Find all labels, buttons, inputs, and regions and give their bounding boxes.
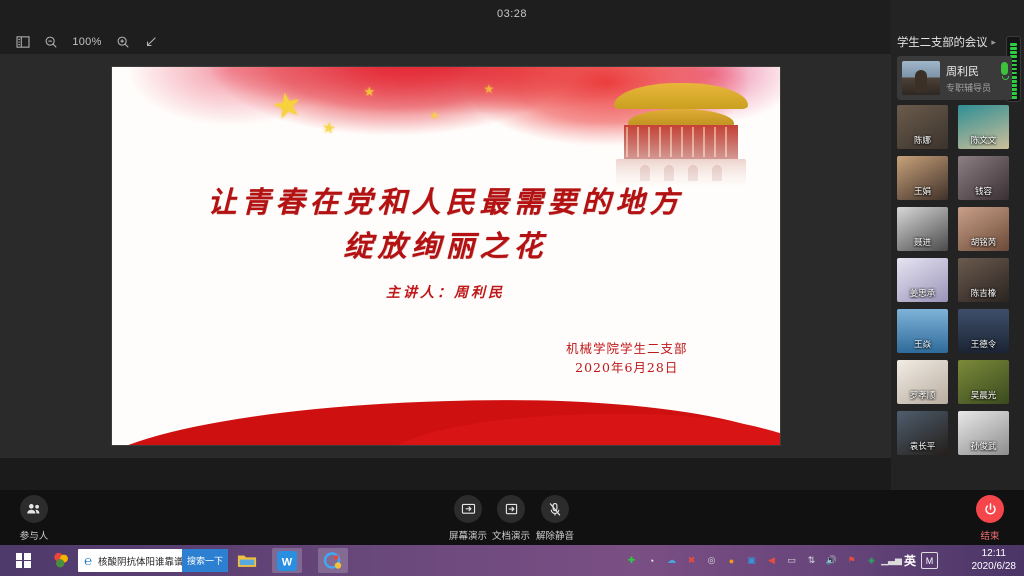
speaker-role: 专职辅导员 bbox=[946, 81, 991, 94]
tray-volume-icon[interactable]: 🔊 bbox=[824, 553, 839, 568]
meeting-title-row: 学生二支部的会议 ▸ bbox=[891, 32, 1024, 52]
tray-disc-icon[interactable]: ◎ bbox=[704, 553, 719, 568]
fit-screen-arrow-icon[interactable] bbox=[144, 33, 158, 51]
active-speaker-card[interactable]: 周利民 专职辅导员 bbox=[897, 56, 1012, 100]
tray-cloud-chat-icon[interactable]: ◔ bbox=[644, 553, 659, 568]
tray-speaker-red-icon[interactable]: ◀ bbox=[764, 553, 779, 568]
star-icon: ★ bbox=[484, 83, 495, 95]
search-button[interactable]: 搜索一下 bbox=[182, 549, 228, 572]
tray-blue-square-icon[interactable]: ▣ bbox=[744, 553, 759, 568]
windows-taskbar: ℮ 核酸阴抗体阳谁靠谱 搜索一下 W ✚◔☁✖◎●▣◀▭⇅🔊⚑◈▁▃▅英M bbox=[0, 545, 1024, 576]
slide-presenter: 主讲人：周利民 bbox=[112, 282, 780, 302]
layout-panel-icon[interactable] bbox=[16, 33, 30, 51]
speaker-meta: 周利民 专职辅导员 bbox=[946, 63, 991, 94]
slide-organization: 机械学院学生二支部 bbox=[566, 339, 688, 358]
participant-name: 聂进 bbox=[897, 236, 948, 248]
participants-button[interactable]: 参与人 bbox=[2, 495, 66, 542]
tray-orange-icon[interactable]: ● bbox=[724, 553, 739, 568]
file-explorer-icon[interactable] bbox=[232, 548, 262, 573]
qq-browser-icon[interactable] bbox=[318, 548, 348, 573]
star-icon: ★ bbox=[364, 85, 376, 98]
participant-name: 王德令 bbox=[958, 338, 1009, 350]
participant-name: 陈吉橡 bbox=[958, 287, 1009, 299]
meeting-title: 学生二支部的会议 bbox=[897, 34, 987, 50]
participant-name: 王娟 bbox=[897, 185, 948, 197]
participant-name: 陈文文 bbox=[958, 134, 1009, 146]
participant-name: 陈娜 bbox=[897, 134, 948, 146]
tencent-meeting-window: 03:28 bbox=[0, 0, 1024, 576]
participants-panel: 学生二支部的会议 ▸ 周利民 专职辅导员 陈娜陈文文王娟钱容聂进胡铭芮姜思承陈吉… bbox=[891, 0, 1024, 490]
participant-tile[interactable]: 王焱 bbox=[897, 309, 948, 353]
zoom-level-label: 100% bbox=[72, 36, 102, 48]
participant-tile[interactable]: 陈娜 bbox=[897, 105, 948, 149]
tray-usb-icon[interactable]: ⇅ bbox=[804, 553, 819, 568]
tray-shield-icon[interactable]: ◈ bbox=[864, 553, 879, 568]
mic-muted-icon bbox=[541, 495, 569, 523]
people-icon bbox=[20, 495, 48, 523]
speaker-name: 周利民 bbox=[946, 63, 991, 79]
mic-on-icon bbox=[1001, 62, 1008, 75]
star-icon: ★ bbox=[430, 111, 440, 122]
slide-title-line-1: 让青春在党和人民最需要的地方 bbox=[112, 181, 780, 225]
edge-icon: ℮ bbox=[78, 553, 98, 568]
tray-flag-icon[interactable]: ⚑ bbox=[844, 553, 859, 568]
tray-monitor-icon[interactable]: ▭ bbox=[784, 553, 799, 568]
end-meeting-button[interactable]: 结束 bbox=[958, 495, 1022, 542]
unmute-label: 解除静音 bbox=[523, 528, 587, 542]
participant-tile[interactable]: 胡铭芮 bbox=[958, 207, 1009, 251]
clock-date: 2020/6/28 bbox=[972, 561, 1017, 574]
window-title-bar: 03:28 bbox=[0, 0, 1024, 30]
search-input[interactable]: 核酸阴抗体阳谁靠谱 bbox=[98, 554, 182, 568]
participant-name: 袁长平 bbox=[897, 440, 948, 452]
participant-tile[interactable]: 陈吉橡 bbox=[958, 258, 1009, 302]
participant-name: 王焱 bbox=[897, 338, 948, 350]
meeting-control-bar: 参与人 屏幕演示 文档演示 bbox=[0, 490, 1024, 545]
tray-network-icon[interactable]: ▁▃▅ bbox=[884, 553, 899, 568]
slide-title: 让青春在党和人民最需要的地方 绽放绚丽之花 bbox=[112, 181, 780, 268]
taskbar-search-box[interactable]: ℮ 核酸阴抗体阳谁靠谱 搜索一下 bbox=[78, 549, 228, 572]
clock-time: 12:11 bbox=[972, 548, 1017, 561]
slide-date: 2020年6月28日 bbox=[566, 358, 688, 377]
end-meeting-label: 结束 bbox=[958, 528, 1022, 542]
participant-name: 吴晨光 bbox=[958, 389, 1009, 401]
participant-grid: 陈娜陈文文王娟钱容聂进胡铭芮姜思承陈吉橡王焱王德令罗孝顺吴晨光袁长平孙俊武 bbox=[897, 105, 1019, 455]
zoom-out-icon[interactable] bbox=[44, 33, 58, 51]
participant-tile[interactable]: 孙俊武 bbox=[958, 411, 1009, 455]
participant-name: 胡铭芮 bbox=[958, 236, 1009, 248]
participant-tile[interactable]: 罗孝顺 bbox=[897, 360, 948, 404]
document-share-icon bbox=[497, 495, 525, 523]
participant-tile[interactable]: 聂进 bbox=[897, 207, 948, 251]
shared-content-stage: ★ ★ ★ ★ ★ 让青春在党和人民最需要的地方 绽放绚丽之花 主讲人：周利民 … bbox=[0, 54, 891, 458]
collapse-panel-icon[interactable]: ▸ bbox=[991, 38, 996, 47]
tray-red-icon[interactable]: ✖ bbox=[684, 553, 699, 568]
wps-writer-icon[interactable]: W bbox=[272, 548, 302, 573]
ime-language-indicator[interactable]: 英 bbox=[904, 552, 916, 569]
share-view-toolbar: 100% bbox=[0, 30, 907, 54]
tray-plus-icon[interactable]: ✚ bbox=[624, 553, 639, 568]
participant-tile[interactable]: 王娟 bbox=[897, 156, 948, 200]
participant-tile[interactable]: 陈文文 bbox=[958, 105, 1009, 149]
participants-label: 参与人 bbox=[2, 528, 66, 542]
participant-tile[interactable]: 钱容 bbox=[958, 156, 1009, 200]
windows-start-icon[interactable] bbox=[6, 549, 40, 572]
participant-name: 钱容 bbox=[958, 185, 1009, 197]
taskbar-clock[interactable]: 12:11 2020/6/28 bbox=[972, 548, 1017, 573]
participant-name: 罗孝顺 bbox=[897, 389, 948, 401]
presentation-slide: ★ ★ ★ ★ ★ 让青春在党和人民最需要的地方 绽放绚丽之花 主讲人：周利民 … bbox=[112, 67, 780, 445]
meeting-timer: 03:28 bbox=[0, 8, 1024, 20]
screen-share-icon bbox=[454, 495, 482, 523]
participant-name: 孙俊武 bbox=[958, 440, 1009, 452]
colorful-app-icon[interactable] bbox=[46, 548, 76, 573]
ime-mode-icon[interactable]: M bbox=[921, 552, 938, 569]
participant-tile[interactable]: 姜思承 bbox=[897, 258, 948, 302]
power-icon bbox=[976, 495, 1004, 523]
participant-tile[interactable]: 王德令 bbox=[958, 309, 1009, 353]
participant-tile[interactable]: 袁长平 bbox=[897, 411, 948, 455]
unmute-button[interactable]: 解除静音 bbox=[523, 495, 587, 542]
tray-cloud-icon[interactable]: ☁ bbox=[664, 553, 679, 568]
zoom-in-icon[interactable] bbox=[116, 33, 130, 51]
star-icon: ★ bbox=[268, 86, 305, 126]
svg-text:W: W bbox=[282, 556, 293, 568]
participant-name: 姜思承 bbox=[897, 287, 948, 299]
slide-footer: 机械学院学生二支部 2020年6月28日 bbox=[566, 339, 688, 378]
avatar bbox=[902, 61, 940, 95]
system-tray: ✚◔☁✖◎●▣◀▭⇅🔊⚑◈▁▃▅英M bbox=[624, 545, 938, 576]
participant-tile[interactable]: 吴晨光 bbox=[958, 360, 1009, 404]
slide-title-line-2: 绽放绚丽之花 bbox=[112, 225, 780, 269]
